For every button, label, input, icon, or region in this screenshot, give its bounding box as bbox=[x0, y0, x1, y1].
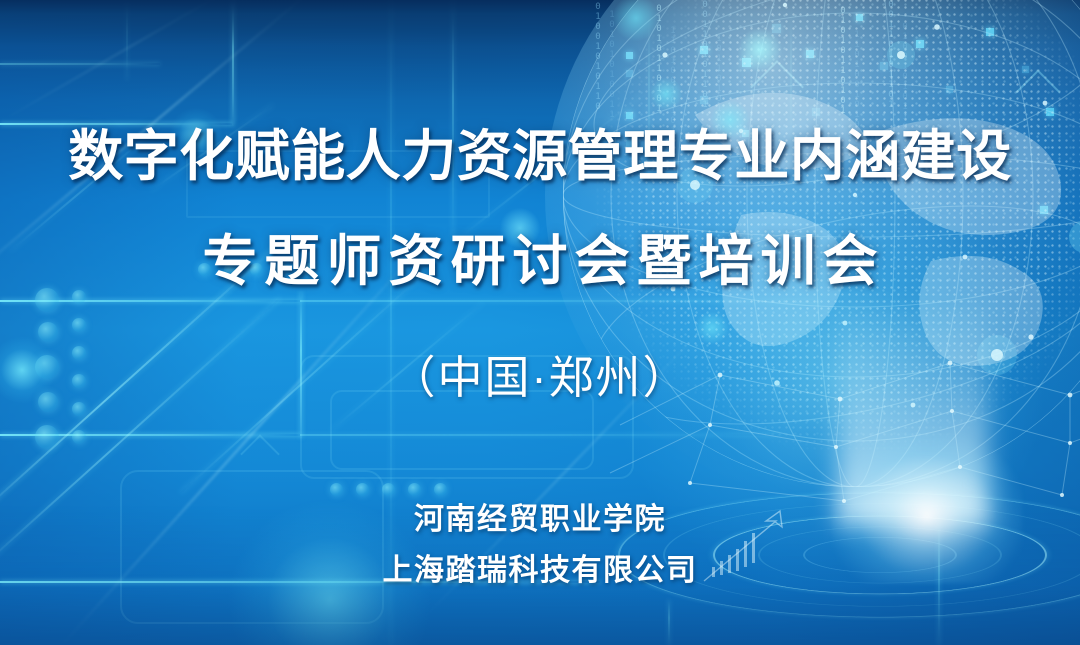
title-line-1: 数字化赋能人力资源管理专业内涵建设 bbox=[0, 124, 1080, 188]
location-subtitle: （中国·郑州） bbox=[0, 350, 1080, 406]
conference-poster: 01001010110 10101010011 01010110101 1101… bbox=[0, 0, 1080, 645]
organizer-line-2: 上海踏瑞科技有限公司 bbox=[0, 545, 1080, 589]
title-line-2: 专题师资研讨会暨培训会 bbox=[0, 229, 1080, 293]
organizer-line-1: 河南经贸职业学院 bbox=[0, 494, 1080, 538]
chevron-up-icon bbox=[240, 434, 280, 474]
